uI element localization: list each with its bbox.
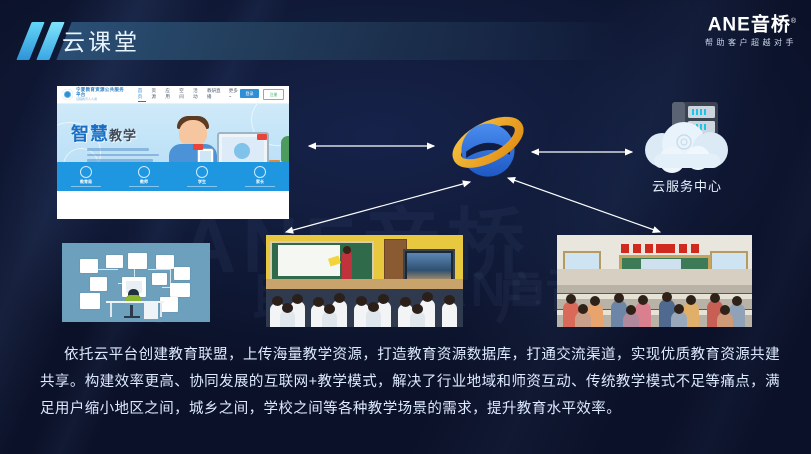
plant-icon: [281, 136, 289, 162]
feature-desc: [71, 186, 101, 188]
content-card: [160, 297, 178, 312]
display-content: [407, 253, 451, 282]
content-card: [152, 273, 167, 285]
hero-headline: 智慧教学: [71, 120, 137, 146]
notification-badge: [257, 134, 267, 140]
page-title: 云课堂: [62, 25, 140, 59]
hero-headline-light: 教学: [109, 128, 137, 143]
rural-classroom-photo: [557, 235, 752, 327]
student-rows: [557, 285, 752, 327]
menu-item-more: 更多 ~: [229, 88, 240, 102]
bureau-icon: [80, 166, 92, 178]
person-head: [179, 120, 207, 146]
content-card: [174, 267, 190, 280]
ie-browser-icon: [449, 108, 527, 186]
brand-logo-text: ANE音桥: [708, 14, 791, 35]
desk-leg: [160, 303, 162, 317]
hero-subtext-line: [87, 148, 149, 151]
content-card: [90, 277, 107, 291]
slide-header: 云课堂: [0, 22, 811, 60]
feature-desc: [129, 186, 159, 188]
slide-caption: 依托云平台创建教育联盟，上传海量教学资源，打造教育资源数据库，打通交流渠道，实现…: [40, 342, 780, 423]
hero-subtext-line: [87, 154, 159, 157]
teacher-head: [343, 246, 351, 254]
content-card: [128, 253, 147, 269]
content-card: [156, 255, 174, 269]
feature-label: 教师: [140, 179, 148, 185]
platform-name-text: 宁夏教育资源公共服务平台: [76, 87, 124, 97]
feature-label: 教育局: [80, 179, 92, 185]
notification-badge: [193, 144, 203, 150]
slide-canvas: ANE音桥 帮 助 客 户 ANE音桥 云课堂 ANE音桥® 帮助客户超越对手 …: [0, 0, 811, 454]
feature-label: 家长: [256, 179, 264, 185]
title-plate: [56, 22, 631, 60]
brand-logo: ANE音桥® 帮助客户超越对手: [705, 12, 797, 47]
feature-cell-parent: 家长: [231, 162, 289, 191]
feature-desc: [187, 186, 217, 188]
webshot-auth-buttons: 登录 注册: [240, 89, 284, 100]
platform-name: 宁夏教育资源公共服务平台 远程教育人人通: [76, 87, 129, 102]
feature-desc: [245, 186, 275, 188]
menu-item-apps: 应用: [165, 88, 173, 102]
caption-text: 依托云平台创建教育联盟，上传海量教学资源，打造教育资源数据库，打通交流渠道，实现…: [40, 342, 780, 423]
online-learning-illustration: [62, 243, 210, 322]
education-platform-screenshot: 宁夏教育资源公共服务平台 远程教育人人通 首页 资源 应用 空间 活动 教研直播…: [57, 86, 289, 219]
content-card: [80, 259, 98, 273]
brand-tagline: 帮助客户超越对手: [705, 38, 797, 47]
smart-classroom-photo: [266, 235, 463, 327]
register-button: 注册: [263, 89, 284, 100]
drawer-unit: [144, 303, 158, 319]
arrow-browser-to-smart-classroom: [286, 182, 470, 232]
teacher-icon: [138, 166, 150, 178]
feature-cell-bureau: 教育局: [57, 162, 115, 191]
webshot-feature-bar: 教育局 教师 学生 家长: [57, 162, 289, 191]
cloud-service-label: 云服务中心: [632, 176, 742, 195]
login-button: 登录: [240, 89, 259, 98]
student-rows: [266, 289, 463, 327]
menu-item-resources: 资源: [152, 88, 160, 102]
platform-subtitle: 远程教育人人通: [76, 97, 129, 102]
webshot-navbar: 宁夏教育资源公共服务平台 远程教育人人通 首页 资源 应用 空间 活动 教研直播…: [57, 86, 289, 104]
chair-base: [124, 316, 140, 318]
feature-label: 学生: [198, 179, 206, 185]
hero-headline-bold: 智慧: [71, 124, 109, 144]
webshot-menu: 首页 资源 应用 空间 活动 教研直播 更多 ~: [138, 88, 240, 102]
webshot-hero: 智慧教学: [57, 104, 289, 191]
parent-icon: [254, 166, 266, 178]
feature-cell-teacher: 教师: [115, 162, 173, 191]
content-card: [80, 293, 100, 309]
national-flag-icon: [656, 244, 670, 253]
content-card: [170, 283, 190, 297]
avatar-illustration: [234, 143, 250, 159]
feature-cell-student: 学生: [173, 162, 231, 191]
registered-mark-icon: ®: [791, 18, 797, 25]
menu-item-activity: 活动: [193, 88, 201, 102]
menu-item-live: 教研直播: [207, 88, 223, 102]
menu-item-space: 空间: [179, 88, 187, 102]
content-card: [106, 255, 123, 268]
brand-logo-name: ANE音桥®: [705, 12, 797, 35]
menu-item-home: 首页: [138, 88, 146, 102]
desk-leg: [110, 303, 112, 317]
student-icon: [196, 166, 208, 178]
platform-logo-icon: [62, 89, 73, 100]
